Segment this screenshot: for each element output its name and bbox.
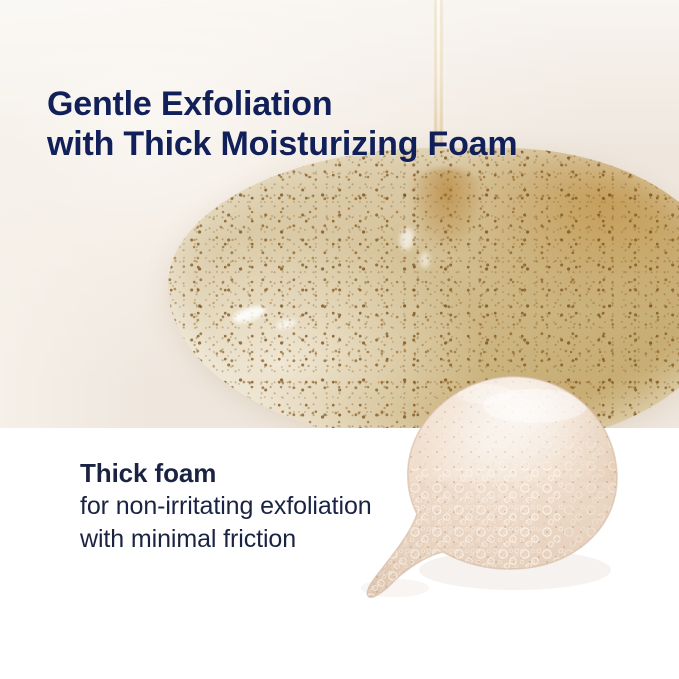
page-title: Gentle Exfoliation with Thick Moisturizi…: [47, 84, 647, 164]
headline-line-1: Gentle Exfoliation: [47, 84, 647, 124]
gel-photo-panel: [0, 0, 679, 428]
gel-highlight: [420, 252, 430, 268]
feature-caption: Thick foam for non-irritating exfoliatio…: [80, 457, 500, 556]
caption-title: Thick foam: [80, 457, 500, 490]
caption-line-1: for non-irritating exfoliation: [80, 490, 500, 523]
product-feature-banner: Gentle Exfoliation with Thick Moisturizi…: [0, 0, 679, 679]
headline-line-2: with Thick Moisturizing Foam: [47, 124, 647, 164]
caption-line-2: with minimal friction: [80, 523, 500, 556]
